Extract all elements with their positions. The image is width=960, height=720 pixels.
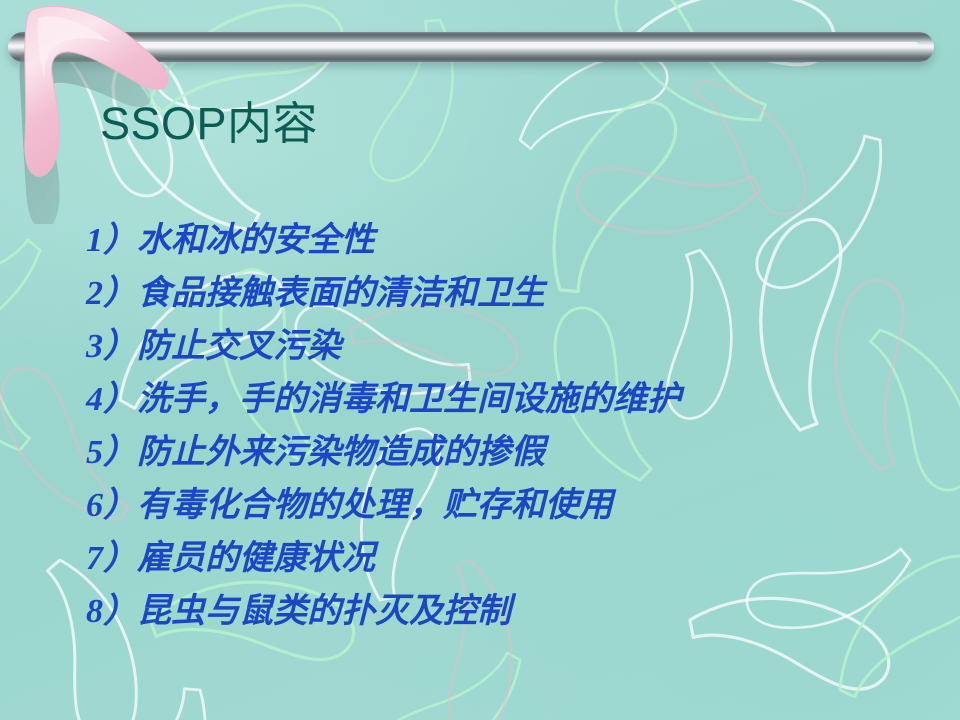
slide-title: SSOP内容 (100, 98, 318, 150)
list-item: 6）有毒化合物的处理，贮存和使用 (86, 479, 746, 532)
list-item: 8）昆虫与鼠类的扑灭及控制 (86, 585, 746, 638)
list-item: 7）雇员的健康状况 (86, 532, 746, 585)
list-item: 5）防止外来污染物造成的掺假 (86, 426, 746, 479)
content-list: 1）水和冰的安全性 2）食品接触表面的清洁和卫生 3）防止交叉污染 4）洗手，手… (86, 214, 746, 638)
list-item: 4）洗手，手的消毒和卫生间设施的维护 (86, 373, 746, 426)
list-item: 3）防止交叉污染 (86, 320, 746, 373)
presentation-slide: SSOP内容 1）水和冰的安全性 2）食品接触表面的清洁和卫生 3）防止交叉污染… (0, 0, 960, 720)
list-item: 1）水和冰的安全性 (86, 214, 746, 267)
list-item: 2）食品接触表面的清洁和卫生 (86, 267, 746, 320)
